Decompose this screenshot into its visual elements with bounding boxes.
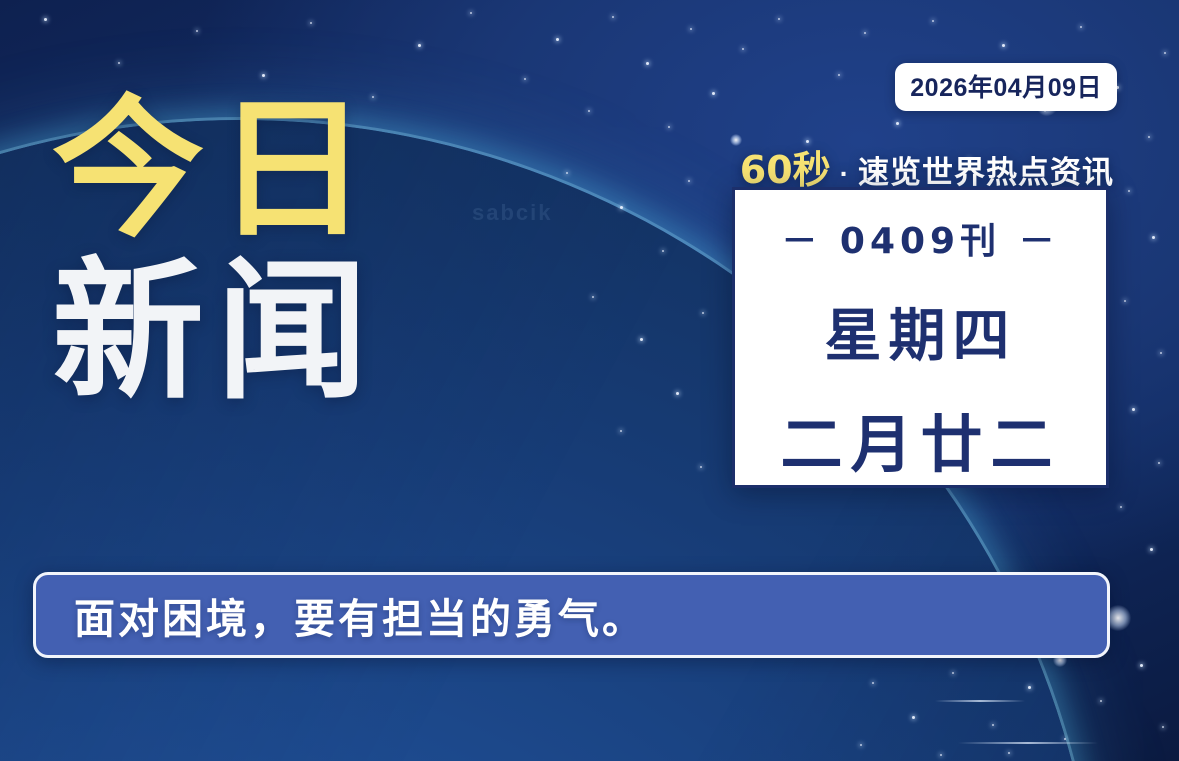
tagline-text: 速览世界热点资讯 [858,147,1114,192]
masthead-line-news: 新闻 [52,257,482,407]
news-poster: sabcik 今日 新闻 2026年04月09日 60秒 · 速览世界热点资讯 … [0,0,1179,761]
issue-info-card: － 0409刊 － 星期四 二月廿二 [732,187,1109,488]
quote-text: 面对困境，要有担当的勇气。 [74,585,646,645]
weekday-label: 星期四 [825,290,1017,372]
tagline-separator-dot: · [831,158,858,190]
date-badge: 2026年04月09日 [895,63,1117,111]
masthead: 今日 新闻 [52,95,482,408]
issue-number: － 0409刊 － [781,212,1059,264]
tagline: 60秒 · 速览世界热点资讯 [740,139,1114,194]
tagline-duration: 60秒 [740,139,831,194]
quote-bar: 面对困境，要有担当的勇气。 [33,572,1110,658]
masthead-line-today: 今日 [52,95,482,245]
lunar-date-label: 二月廿二 [780,394,1060,484]
